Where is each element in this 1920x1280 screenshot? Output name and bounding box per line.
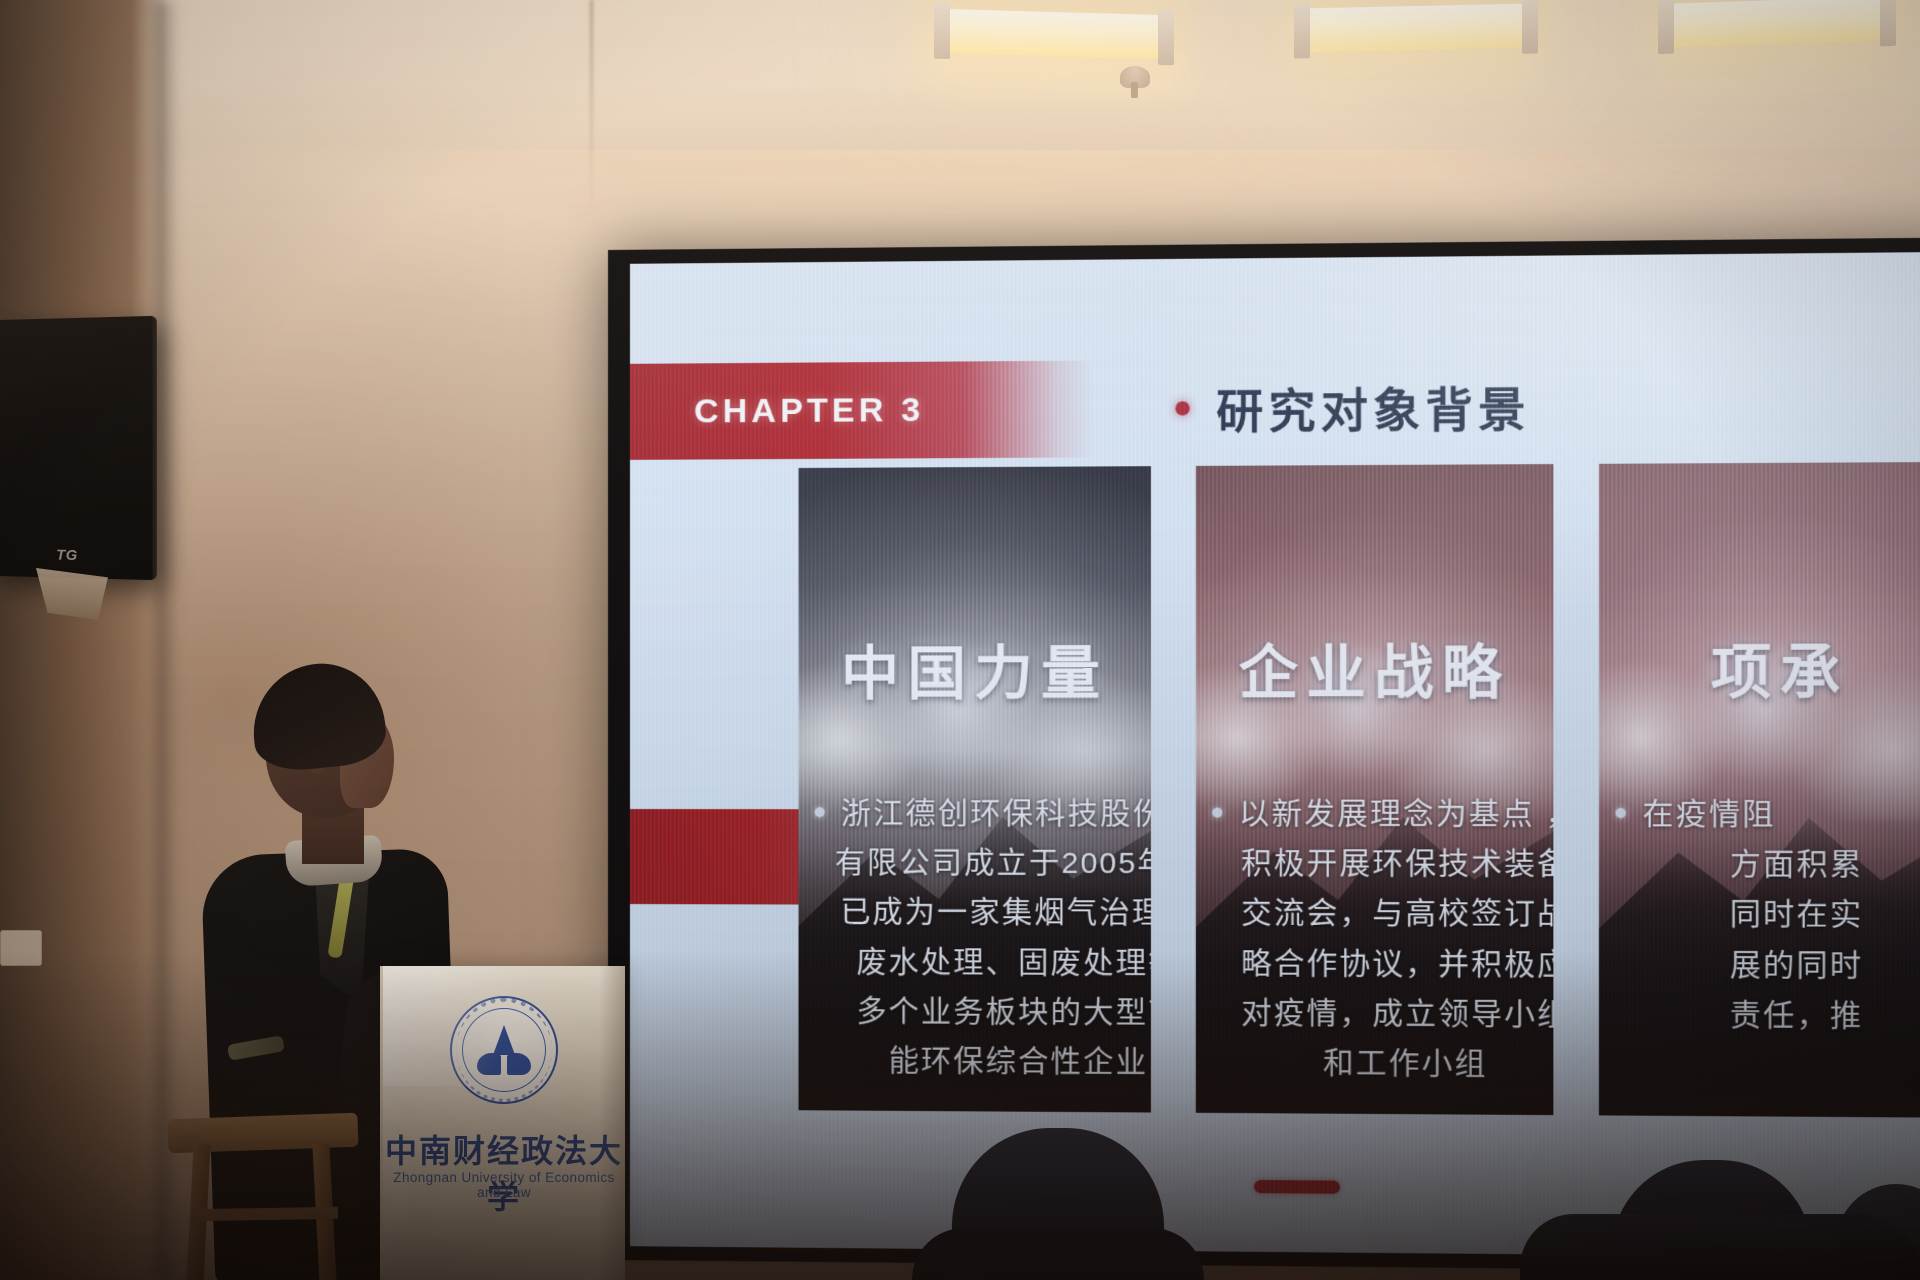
ceiling-light-icon bbox=[1672, 0, 1882, 48]
floor-shadow bbox=[0, 950, 1920, 1280]
wall-speaker: TG bbox=[0, 316, 157, 580]
conference-room-photo: TG CHAPTER 3 研究对象背景 bbox=[0, 0, 1920, 1280]
speaker-brand-label: TG bbox=[56, 547, 78, 564]
presenter-hair bbox=[247, 657, 389, 774]
ceiling-light-icon bbox=[948, 9, 1160, 59]
wall-seam bbox=[590, 0, 593, 215]
sprinkler-icon bbox=[1120, 66, 1150, 88]
ceiling-light-icon bbox=[1308, 4, 1524, 53]
